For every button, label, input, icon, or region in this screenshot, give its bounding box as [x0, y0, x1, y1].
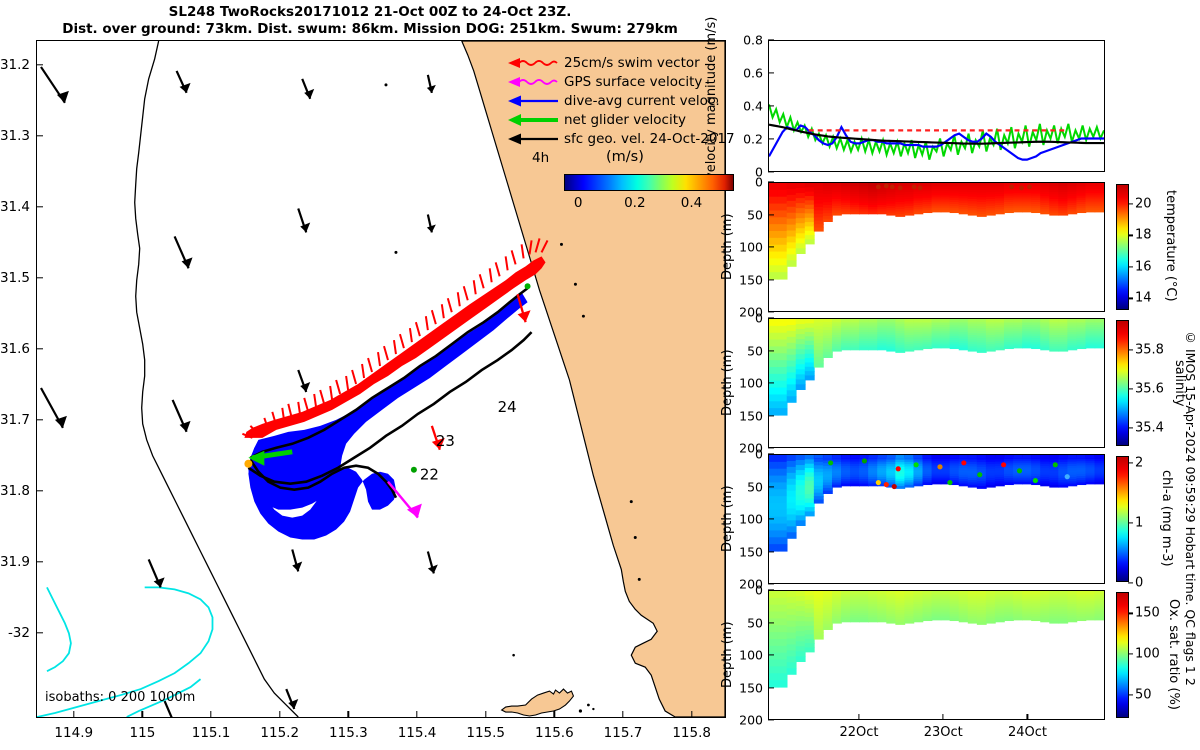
surface-marker — [1041, 455, 1050, 458]
velocity-y-tick-mark — [768, 72, 774, 73]
surface-marker — [1004, 455, 1013, 458]
surface-warm-dot — [1019, 186, 1024, 191]
surface-marker — [1023, 591, 1032, 594]
surface-marker — [1032, 455, 1041, 458]
section-cell — [787, 242, 797, 249]
section-cell — [977, 622, 987, 625]
section-cell — [814, 486, 824, 490]
map-x-tick-label: 115.8 — [672, 725, 711, 741]
section-cell — [995, 620, 1005, 623]
section-cell — [814, 340, 824, 344]
section-cell — [787, 532, 797, 539]
velocity-magnitude-panel[interactable]: velocity magnitude (m/s) 00.20.40.60.8 — [768, 40, 1105, 172]
section-cell — [986, 621, 996, 624]
section-cell — [796, 646, 806, 652]
map-y-tick-label: 31.2 — [0, 57, 30, 73]
legend-label: GPS surface velocity — [564, 74, 702, 90]
chlorophyll-plot-area[interactable] — [768, 454, 1105, 584]
section-cell — [1085, 210, 1095, 213]
section-cell — [805, 367, 815, 372]
colorbar-tick-label: 35.6 — [1135, 381, 1164, 396]
section-cell — [796, 636, 806, 642]
depth-tick-label: 200 — [739, 713, 763, 728]
depth-tick-label: 0 — [755, 175, 763, 190]
section-cell — [814, 496, 824, 500]
section-cell — [859, 348, 869, 351]
imos-credit: © IMOS 15-Apr-2024 09:59:29 Hobart time.… — [1183, 330, 1198, 686]
section-cell — [913, 484, 923, 487]
colorbar-tick-mark — [1128, 694, 1133, 695]
temperature-colorbar[interactable]: 14161820 — [1116, 184, 1129, 310]
velocity-colorbar[interactable] — [564, 174, 734, 191]
surface-warm-dot — [1009, 185, 1014, 190]
section-cell — [814, 622, 824, 626]
map-x-tick-mark — [73, 711, 74, 718]
section-cell — [814, 636, 824, 640]
surface-marker — [968, 319, 977, 322]
qc-flag-dot — [947, 480, 952, 485]
surface-marker — [932, 455, 941, 458]
section-cell — [769, 510, 778, 517]
legend-item[interactable]: net glider velocity — [506, 111, 735, 129]
section-cell — [814, 601, 824, 605]
section-cell — [841, 212, 851, 215]
section-cell — [841, 620, 851, 623]
section-cell — [796, 490, 806, 496]
surface-warm-dot — [876, 185, 881, 190]
surface-marker — [950, 591, 959, 594]
map-x-tick-label: 115.1 — [192, 725, 231, 741]
depth-tick-mark — [768, 246, 774, 247]
section-cell — [796, 495, 806, 501]
legend-item[interactable]: 25cm/s swim vector — [506, 54, 735, 72]
salinity-colorbar[interactable]: 35.435.635.8 — [1116, 320, 1129, 446]
surface-marker — [905, 319, 914, 322]
colorbar-tick-label: 18 — [1135, 228, 1152, 243]
surface-marker — [887, 455, 896, 458]
time-tick-mark — [1027, 714, 1028, 720]
section-cell — [769, 489, 778, 496]
section-cell — [769, 660, 778, 667]
section-cell — [841, 348, 851, 351]
section-cell — [787, 644, 797, 651]
qc-flag-dot — [896, 466, 901, 471]
surface-marker — [950, 319, 959, 322]
section-cell — [769, 217, 778, 224]
section-cell — [805, 621, 815, 626]
section-cell — [778, 646, 788, 653]
depth-tick-mark — [768, 687, 774, 688]
map-y-tick-mark — [36, 490, 43, 491]
section-cell — [1022, 618, 1032, 621]
map-legend: 25cm/s swim vector GPS surface velocity — [506, 54, 735, 149]
surface-marker — [1059, 591, 1068, 594]
section-cell — [796, 480, 806, 486]
section-cell — [787, 213, 797, 220]
section-cell — [814, 458, 824, 462]
section-cell — [814, 329, 824, 333]
legend-colorbar-units: (m/s) — [606, 149, 644, 165]
surface-marker — [778, 591, 787, 594]
section-cell — [814, 221, 824, 225]
velocity-y-tick-label: 0.4 — [743, 99, 763, 114]
section-cell — [1004, 210, 1014, 213]
section-cell — [769, 476, 778, 483]
section-cell — [778, 346, 788, 353]
section-cell — [1058, 213, 1068, 216]
oxygen-colorbar[interactable]: 50100150 — [1116, 592, 1129, 718]
section-cell — [814, 204, 824, 208]
surface-marker — [968, 591, 977, 594]
coast-dot-2 — [574, 283, 577, 286]
glider-mission-figure: SL248 TwoRocks20171012 21-Oct 00Z to 24-… — [0, 0, 1200, 750]
section-cell — [814, 493, 824, 497]
section-cell — [787, 621, 797, 628]
section-cell — [1013, 210, 1023, 213]
section-cell — [805, 209, 815, 214]
map-y-tick-label: 31.8 — [0, 483, 30, 499]
salinity-plot-area[interactable] — [768, 318, 1105, 448]
section-cell — [986, 485, 996, 488]
section-cell — [805, 196, 815, 201]
section-cell — [814, 210, 824, 214]
section-cell — [778, 340, 788, 347]
section-cell — [796, 510, 806, 516]
section-cell — [769, 394, 778, 401]
section-cell — [814, 357, 824, 361]
temperature-plot-area[interactable] — [768, 182, 1105, 312]
surface-marker — [1013, 591, 1022, 594]
section-cell — [769, 632, 778, 639]
section-cell — [778, 210, 788, 217]
surface-marker — [1068, 183, 1077, 186]
map-x-tick-mark — [485, 711, 486, 718]
section-cell — [796, 369, 806, 375]
section-cell — [805, 634, 815, 639]
section-cell — [769, 496, 778, 503]
section-cell — [814, 482, 824, 486]
section-cell — [778, 231, 788, 238]
track-day-label-23: 23 — [436, 432, 455, 450]
section-cell — [1031, 210, 1041, 213]
section-cell — [796, 384, 806, 390]
depth-tick-mark — [768, 415, 774, 416]
track-end-marker — [525, 283, 531, 289]
surface-marker — [787, 455, 796, 458]
velocity-plot-area[interactable] — [768, 40, 1105, 172]
surface-marker — [1077, 183, 1086, 186]
section-cell — [832, 213, 842, 216]
map-x-tick-mark — [142, 711, 143, 718]
section-cell — [832, 485, 842, 488]
section-cell — [868, 212, 878, 215]
surface-marker — [1086, 591, 1095, 594]
surface-marker — [932, 319, 941, 322]
section-cell — [778, 462, 788, 469]
section-cell — [1095, 482, 1104, 485]
surface-marker — [959, 319, 968, 322]
temperature-section-panel[interactable]: Depth (m) 050100150200 14161820 temperat… — [768, 182, 1105, 312]
surface-marker — [1050, 319, 1059, 322]
surface-marker — [986, 591, 995, 594]
section-cell — [769, 646, 778, 653]
surface-marker — [905, 591, 914, 594]
depth-tick-mark — [768, 551, 774, 552]
chlorophyll-section-panel[interactable]: Depth (m) 050100150200 012 chl-a (mg m-3… — [768, 454, 1105, 584]
section-cell — [796, 344, 806, 350]
section-cell — [769, 530, 778, 537]
section-cell — [977, 214, 987, 217]
surface-marker — [995, 591, 1004, 594]
surface-marker — [805, 591, 814, 594]
section-cell — [868, 620, 878, 623]
section-cell — [778, 618, 788, 625]
section-cell — [832, 621, 842, 624]
geostrophic-velocity-arrows — [41, 67, 434, 717]
time-series-column: velocity magnitude (m/s) 00.20.40.60.8 D… — [768, 0, 1200, 750]
section-cell — [778, 680, 788, 687]
legend-label: 25cm/s swim vector — [564, 55, 700, 71]
section-cell — [805, 472, 815, 477]
section-cell — [787, 331, 797, 338]
oxygen-depth-axis-title: Depth (m) — [720, 595, 735, 715]
section-cell — [769, 204, 778, 211]
oxygen-plot-area[interactable] — [768, 590, 1105, 720]
islet-dot-1 — [579, 709, 582, 712]
depth-tick-mark — [768, 382, 774, 383]
surface-marker — [1023, 319, 1032, 322]
section-cell — [1049, 349, 1059, 352]
map-y-tick-mark — [36, 135, 43, 136]
section-cell — [805, 371, 815, 376]
surface-marker — [1032, 183, 1041, 186]
qc-flag-dot — [862, 458, 867, 463]
section-cell — [950, 346, 960, 349]
colorbar-tick-mark — [1128, 203, 1133, 204]
map-y-tick-mark — [36, 277, 43, 278]
section-cell — [778, 605, 788, 612]
section-cell — [805, 468, 815, 473]
section-cell — [787, 260, 797, 267]
surface-marker — [968, 455, 977, 458]
section-cell — [796, 379, 806, 385]
map-x-tick-label: 115.7 — [604, 725, 643, 741]
surface-marker — [805, 455, 814, 458]
map-y-tick-mark — [36, 561, 43, 562]
depth-tick-mark — [768, 181, 774, 182]
section-cell — [805, 213, 815, 218]
section-cell — [1013, 482, 1023, 485]
surface-marker — [1059, 455, 1068, 458]
section-cell — [778, 394, 788, 401]
section-cell — [805, 647, 815, 652]
colorbar-tick-mark — [1128, 522, 1133, 523]
surface-marker — [959, 455, 968, 458]
qc-flag-dot — [1053, 462, 1058, 467]
section-cell — [805, 600, 815, 605]
surface-marker — [832, 591, 841, 594]
section-cell — [1076, 618, 1086, 621]
surface-marker — [850, 183, 859, 186]
section-cell — [805, 187, 815, 192]
section-cell — [923, 210, 933, 213]
surface-marker — [977, 183, 986, 186]
section-cell — [796, 465, 806, 471]
section-cell — [778, 653, 788, 660]
surface-marker — [968, 183, 977, 186]
qc-flag-dot — [961, 460, 966, 465]
oxygen-colorbar-title: Ox. sat. ratio (%) — [1166, 586, 1181, 722]
surface-marker — [1068, 455, 1077, 458]
section-cell — [805, 481, 815, 486]
section-cell — [778, 476, 788, 483]
surface-marker — [1077, 319, 1086, 322]
section-cell — [787, 189, 797, 196]
section-cell — [769, 598, 778, 605]
section-cell — [814, 350, 824, 354]
legend-item[interactable]: dive-avg current veloc. — [506, 92, 735, 110]
section-cell — [778, 217, 788, 224]
section-cell — [814, 615, 824, 619]
section-cell — [805, 459, 815, 464]
section-cell — [778, 639, 788, 646]
velocity-y-tick-mark — [768, 39, 774, 40]
surface-marker — [941, 591, 950, 594]
section-cell — [805, 498, 815, 503]
surface-marker — [905, 455, 914, 458]
coast-dot-3 — [582, 315, 585, 318]
section-cell — [769, 374, 778, 381]
surface-marker — [941, 183, 950, 186]
surface-warm-dot — [918, 186, 923, 191]
section-cell — [778, 666, 788, 673]
title-line-2: Dist. over ground: 73km. Dist. swum: 86k… — [0, 21, 740, 38]
section-cell — [805, 464, 815, 469]
surface-marker — [995, 319, 1004, 322]
oxygen-section-panel[interactable]: Depth (m) 050100150200 50100150 Ox. sat.… — [768, 590, 1105, 720]
section-cell — [814, 608, 824, 612]
map-y-tick-mark — [36, 632, 43, 633]
chlorophyll-depth-axis-title: Depth (m) — [720, 459, 735, 579]
section-cell — [959, 348, 969, 351]
map-y-tick-mark — [36, 348, 43, 349]
sfc-geo-velocity-icon — [506, 131, 564, 147]
map-panel[interactable]: 22 23 24 isobaths: 0 200 1000m 31.231.33… — [36, 40, 726, 718]
section-cell — [787, 248, 797, 255]
map-y-tick-label: -32 — [8, 625, 30, 641]
section-cell — [769, 252, 778, 259]
legend-item[interactable]: GPS surface velocity — [506, 73, 735, 91]
velocity-y-tick-mark — [768, 105, 774, 106]
section-cell — [796, 626, 806, 632]
section-cell — [796, 233, 806, 239]
section-cell — [877, 620, 887, 623]
depth-tick-label: 100 — [739, 512, 763, 527]
section-cell — [787, 236, 797, 243]
velocity-y-tick-label: 0.2 — [743, 132, 763, 147]
velocity-y-tick-label: 0.8 — [743, 33, 763, 48]
section-cell — [796, 198, 806, 204]
colorbar-tick-mark — [1128, 653, 1133, 654]
section-cell — [787, 514, 797, 521]
legend-item[interactable]: sfc geo. vel. 24-Oct-2017 — [506, 130, 735, 148]
section-cell — [778, 224, 788, 231]
section-cell — [769, 666, 778, 673]
section-cell — [959, 484, 969, 487]
section-cell — [787, 461, 797, 468]
surface-marker — [932, 591, 941, 594]
surface-marker — [850, 319, 859, 322]
surface-marker — [823, 183, 832, 186]
section-cell — [796, 621, 806, 627]
section-cell — [778, 625, 788, 632]
section-cell — [850, 348, 860, 351]
section-cell — [769, 360, 778, 367]
surface-marker — [1041, 319, 1050, 322]
section-cell — [986, 213, 996, 216]
section-cell — [787, 361, 797, 368]
section-cell — [941, 210, 951, 213]
surface-marker — [841, 319, 850, 322]
section-cell — [778, 258, 788, 265]
surface-marker — [814, 455, 823, 458]
section-cell — [796, 485, 806, 491]
section-cell — [769, 503, 778, 510]
section-cell — [805, 613, 815, 618]
section-cell — [1013, 346, 1023, 349]
chlorophyll-colorbar[interactable]: 012 — [1116, 456, 1129, 582]
surface-marker — [1013, 319, 1022, 322]
section-cell — [814, 333, 824, 337]
section-cell — [787, 597, 797, 604]
section-cell — [1095, 210, 1104, 213]
colorbar-tick-label: 150 — [1135, 606, 1160, 621]
section-cell — [1022, 482, 1032, 485]
map-y-tick-label: 31.3 — [0, 128, 30, 144]
section-cell — [859, 212, 869, 215]
section-cell — [769, 605, 778, 612]
surface-marker — [914, 591, 923, 594]
depth-tick-label: 150 — [739, 408, 763, 423]
surface-marker — [1032, 591, 1041, 594]
section-cell — [787, 231, 797, 238]
surface-marker — [1086, 319, 1095, 322]
section-cell — [769, 625, 778, 632]
islet-dot-3 — [592, 708, 594, 710]
qc-flag-dot — [828, 460, 833, 465]
depth-tick-label: 100 — [739, 240, 763, 255]
section-cell — [977, 486, 987, 489]
surface-marker — [977, 319, 986, 322]
surface-marker — [1004, 591, 1013, 594]
section-cell — [796, 606, 806, 612]
section-cell — [805, 626, 815, 631]
section-cell — [787, 467, 797, 474]
section-cell — [814, 632, 824, 636]
section-cell — [814, 228, 824, 232]
surface-marker — [1059, 319, 1068, 322]
section-cell — [769, 401, 778, 408]
section-cell — [805, 239, 815, 244]
salinity-section-panel[interactable]: Depth (m) 050100150200 35.435.635.8 sali… — [768, 318, 1105, 448]
islet-dot-4 — [512, 654, 515, 657]
section-cell — [787, 656, 797, 663]
temperature-colorbar-title: temperature (°C) — [1163, 180, 1178, 312]
section-cell — [814, 186, 824, 190]
isobath-1000m — [47, 587, 71, 671]
section-cell — [814, 618, 824, 622]
section-cell — [787, 508, 797, 515]
